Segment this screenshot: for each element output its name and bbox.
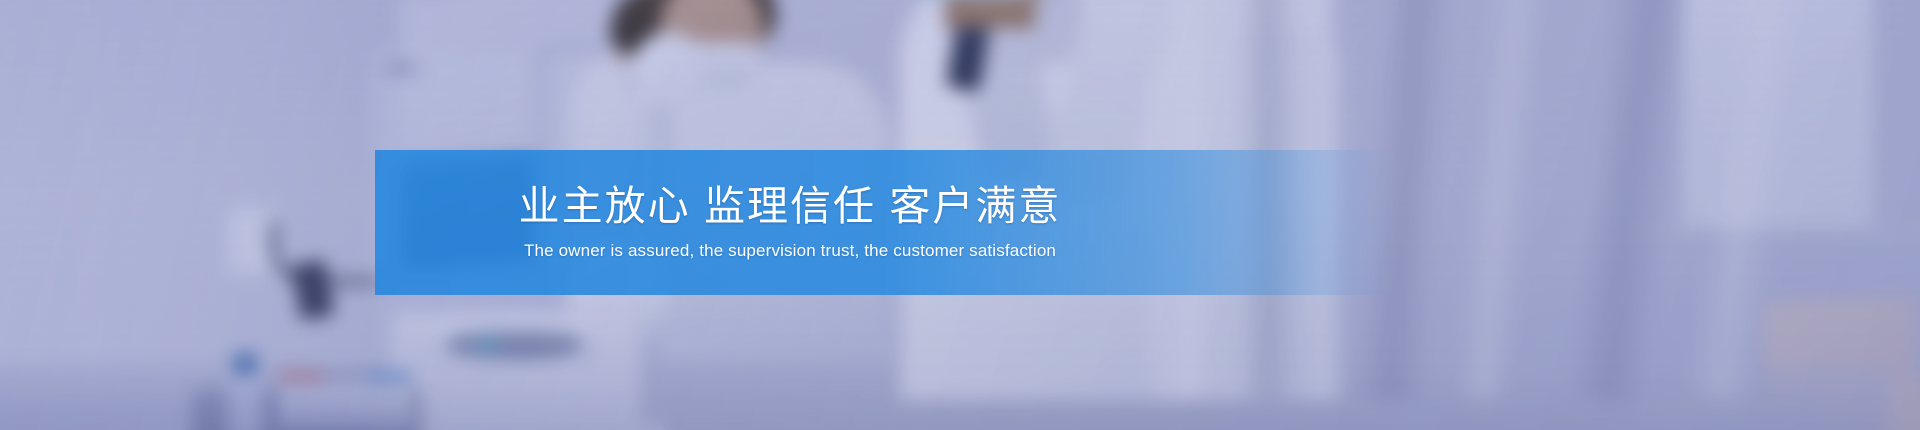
banner-text-block: 业主放心 监理信任 客户满意 The owner is assured, the… xyxy=(375,150,1205,295)
hero-banner: 业主放心 监理信任 客户满意 The owner is assured, the… xyxy=(0,0,1920,430)
banner-headline: 业主放心 监理信任 客户满意 xyxy=(519,184,1062,230)
banner-subheadline: The owner is assured, the supervision tr… xyxy=(524,241,1056,261)
